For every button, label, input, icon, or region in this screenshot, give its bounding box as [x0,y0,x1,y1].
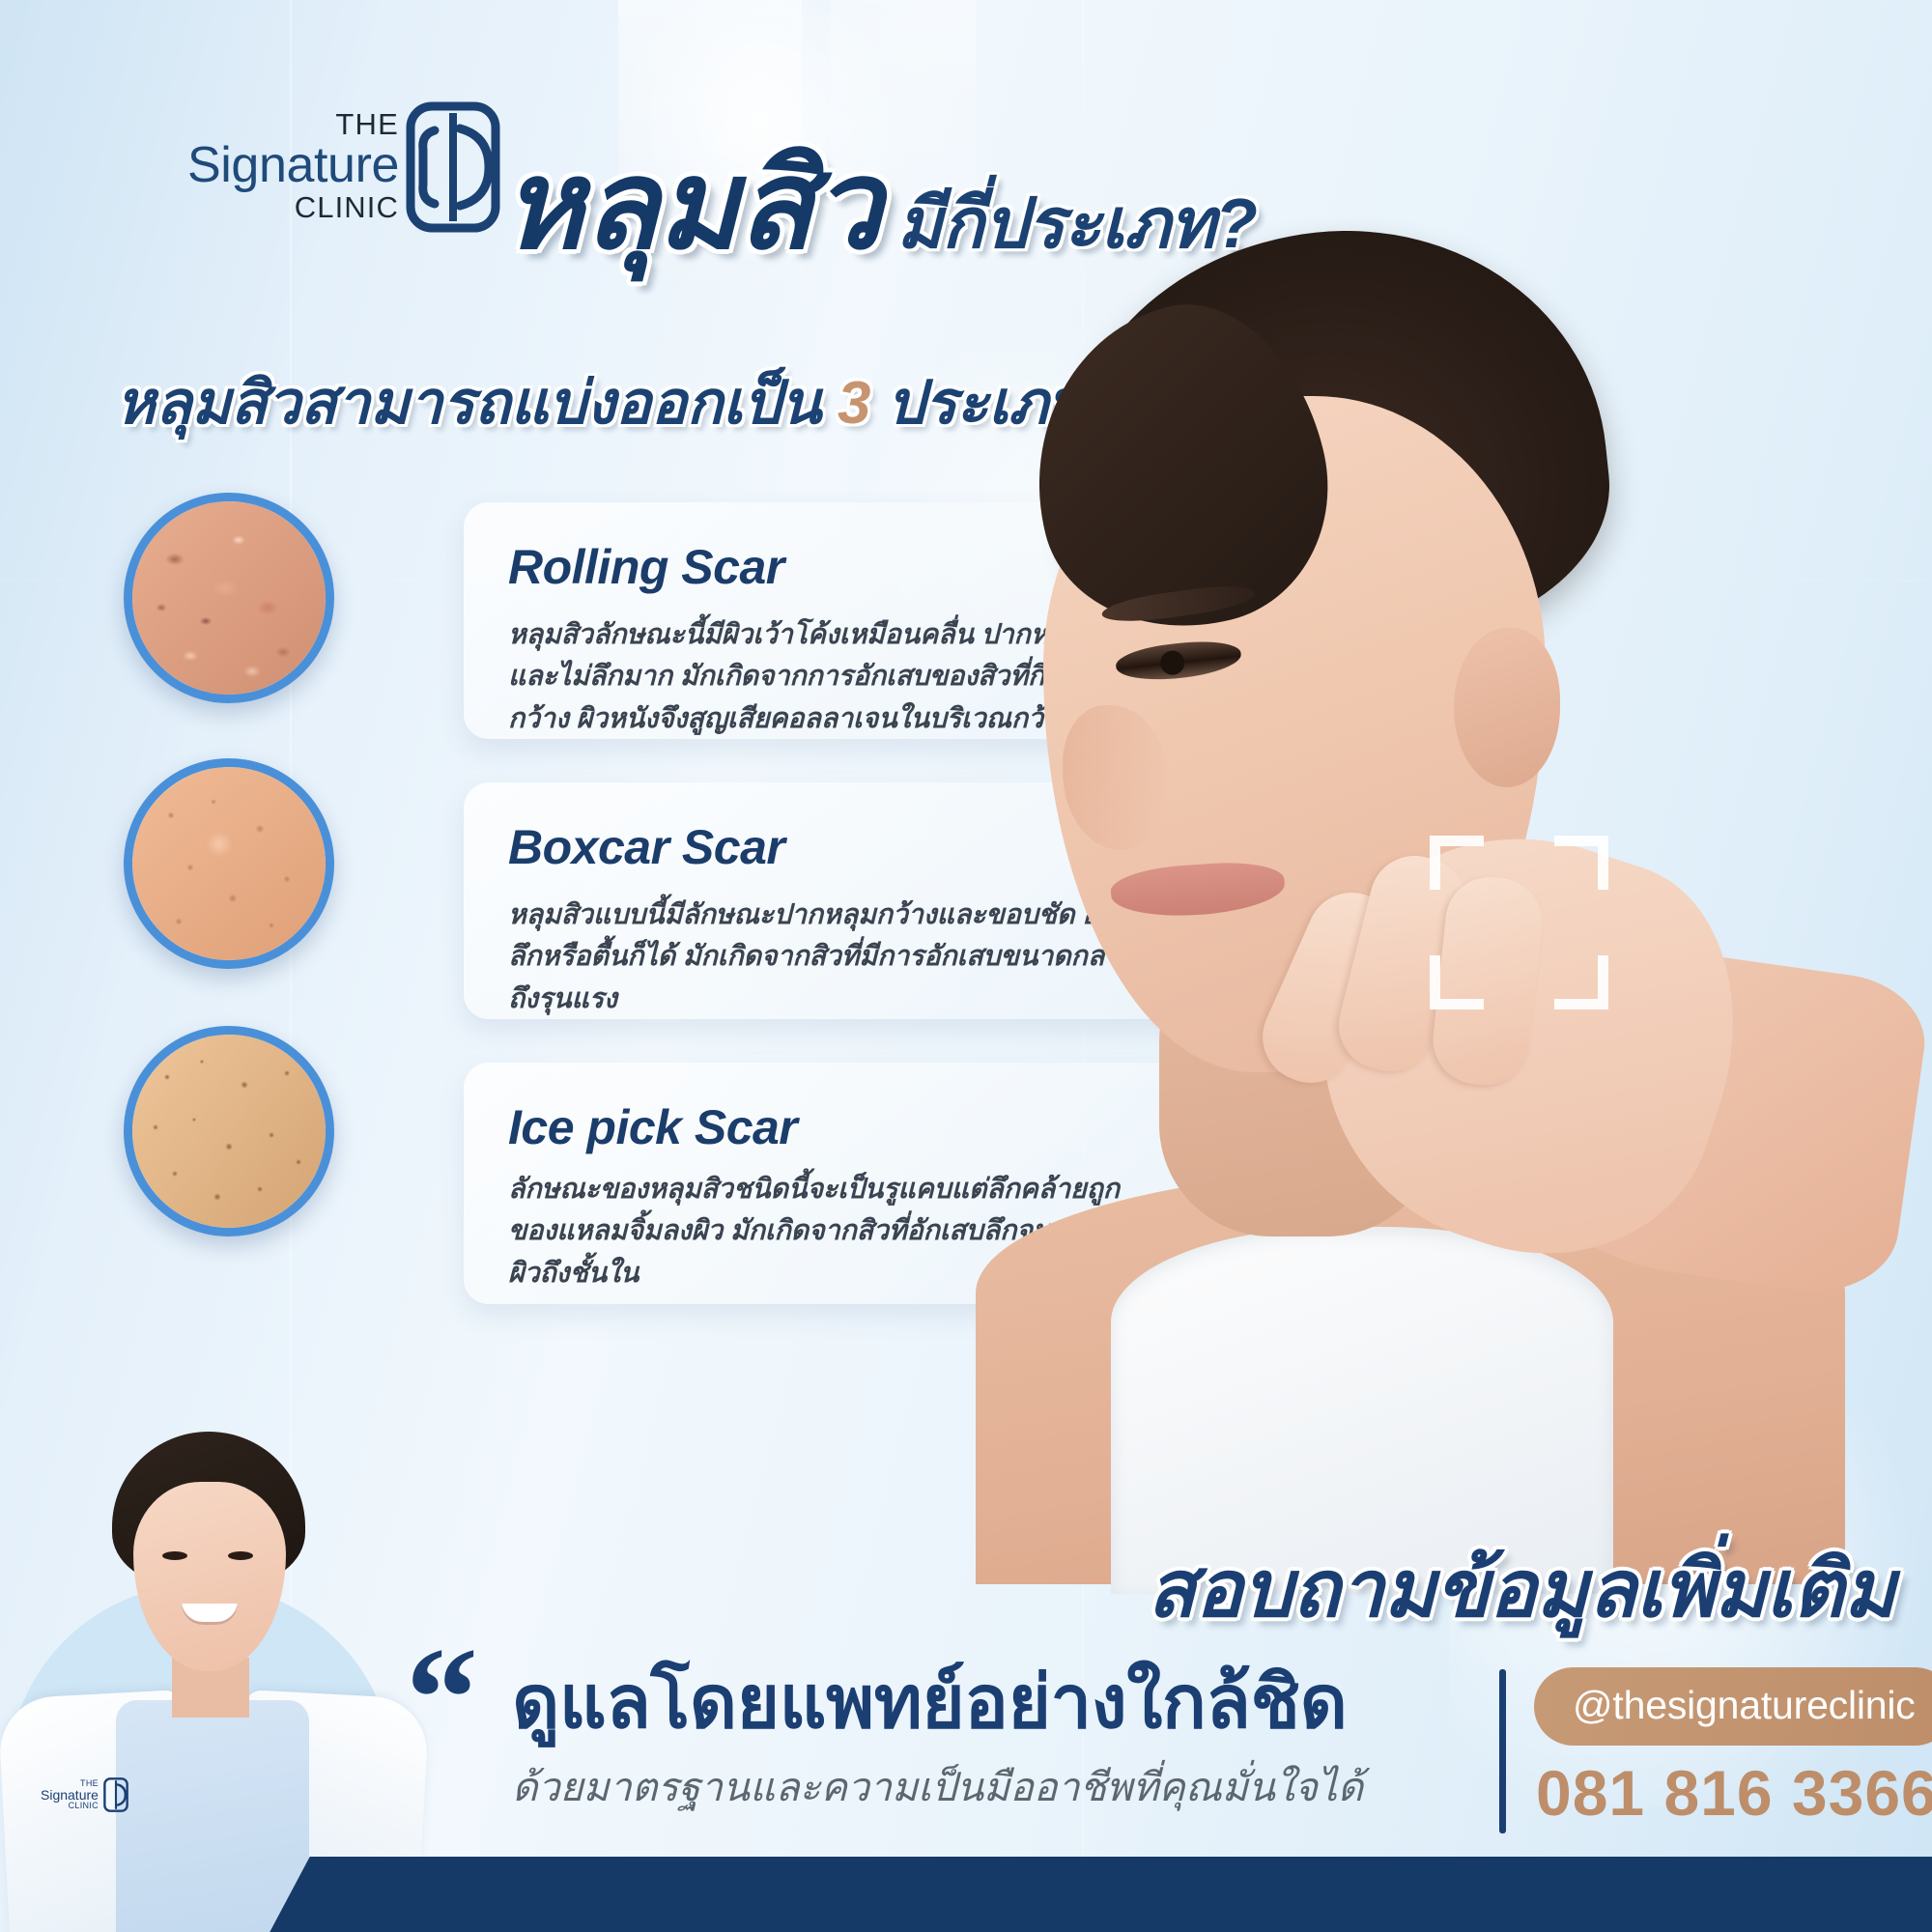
focus-frame-icon [1430,836,1608,1009]
model-ear [1454,628,1560,787]
scar-texture [132,501,326,695]
focus-corner-bottom-left [1430,955,1484,1009]
focus-corner-bottom-right [1554,955,1608,1009]
boxcar-scar-photo [124,758,334,969]
brand-logo: THE Signature CLINIC [201,101,500,237]
footer-divider [1499,1669,1506,1833]
footer-quote-secondary: ด้วยมาตรฐานและความเป็นมืออาชีพที่คุณมั่น… [512,1756,1363,1819]
signature-clinic-monogram-icon [103,1777,128,1812]
subheadline-prefix: หลุมสิวสามารถแบ่งออกเป็น [116,370,821,437]
brand-logo-line-the: THE [187,109,399,139]
brand-logo-line-signature: Signature [187,140,399,190]
doctor-shirt [116,1700,309,1932]
scar-texture [132,767,326,960]
footer-cta-headline: สอบถามข้อมูลเพิ่มเติม [1148,1526,1895,1652]
brand-logo-wordmark: THE Signature CLINIC [187,109,399,222]
scar-texture [132,1035,326,1228]
bottom-bar [425,1857,1932,1932]
social-handle-badge[interactable]: @thesignatureclinic [1534,1667,1932,1746]
headline-main-text: หลุมสิว [502,106,881,302]
signature-clinic-monogram-icon [406,101,500,233]
doctor-coat-logo-line-signature: Signature [41,1788,99,1802]
doctor-eye [228,1551,253,1560]
doctor-eye [162,1551,187,1560]
man-touching-face-photo [918,222,1932,1575]
ice-pick-scar-photo [124,1026,334,1236]
doctor-coat-logo: THE Signature CLINIC [41,1776,156,1814]
brand-logo-line-clinic: CLINIC [187,192,399,222]
footer-quote-primary: ดูแลโดยแพทย์อย่างใกล้ชิด [512,1644,1347,1760]
focus-corner-top-left [1430,836,1484,890]
doctor-coat-logo-line-clinic: CLINIC [41,1802,99,1810]
phone-number[interactable]: 081 816 3366 [1536,1756,1932,1830]
focus-corner-top-right [1554,836,1608,890]
subheadline-count: 3 [838,370,870,437]
rolling-scar-photo [124,493,334,703]
doctor-coat-logo-wordmark: THE Signature CLINIC [41,1779,99,1810]
